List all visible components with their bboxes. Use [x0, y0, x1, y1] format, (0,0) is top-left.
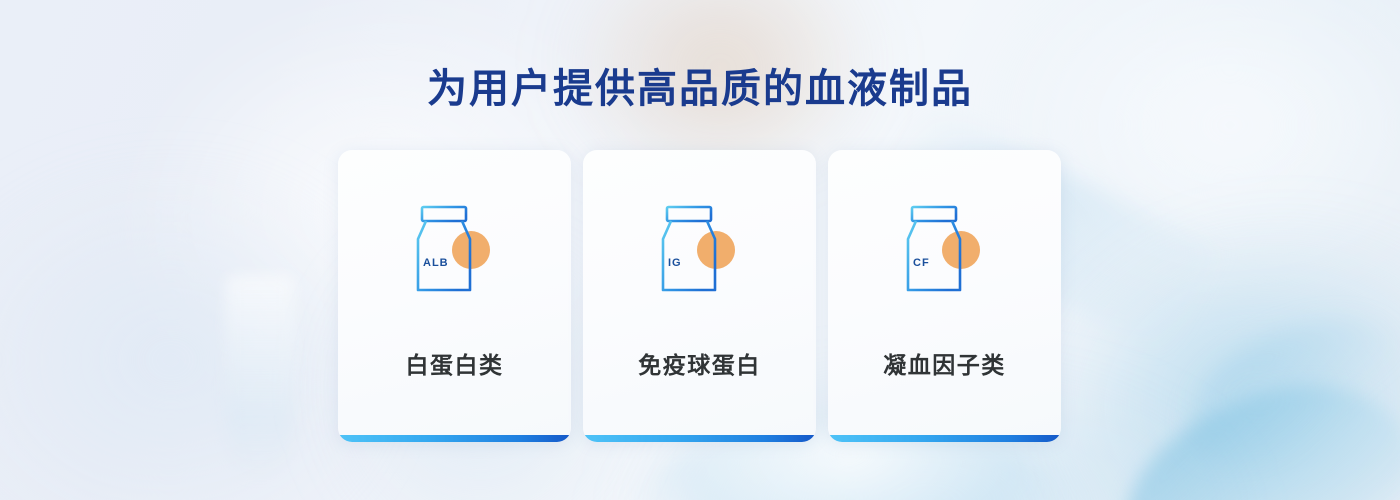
bottle-label-text: ALB — [423, 257, 449, 269]
immunoglobulin-bottle-icon: IG — [645, 202, 755, 302]
category-card-list: ALB 白蛋白类 — [338, 150, 1062, 442]
bottle-label-text: CF — [913, 257, 930, 269]
product-category-banner: 为用户提供高品质的血液制品 ALB — [0, 0, 1400, 500]
background-test-tube-shape — [225, 275, 295, 480]
category-card-coagulation-factor[interactable]: CF 凝血因子类 — [828, 150, 1061, 442]
page-title: 为用户提供高品质的血液制品 — [0, 56, 1400, 114]
bottle-label-text: IG — [668, 257, 682, 269]
coagulation-factor-bottle-icon: CF — [890, 202, 1000, 302]
category-card-immunoglobulin[interactable]: IG 免疫球蛋白 — [583, 150, 816, 442]
albumin-bottle-icon: ALB — [400, 202, 510, 302]
category-card-label: 白蛋白类 — [406, 346, 504, 380]
category-card-albumin[interactable]: ALB 白蛋白类 — [338, 150, 571, 442]
category-card-label: 免疫球蛋白 — [638, 346, 761, 380]
category-card-label: 凝血因子类 — [883, 346, 1006, 380]
background-blur-left — [0, 180, 360, 500]
